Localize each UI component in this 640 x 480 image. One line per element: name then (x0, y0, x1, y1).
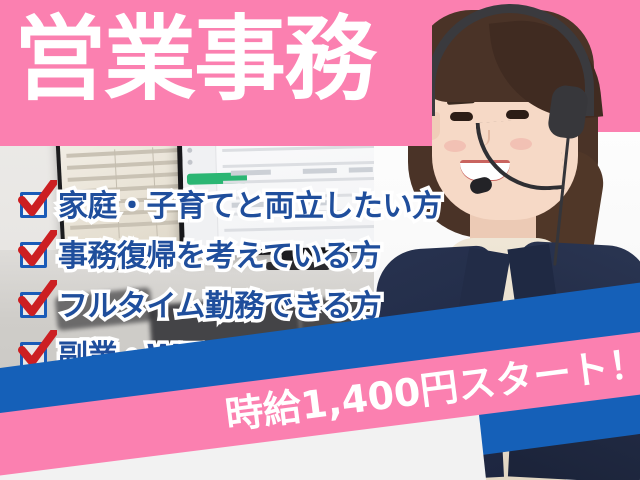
page-title: 営業事務 (14, 14, 424, 106)
checklist-item-label: 事務復帰を考えている方 (58, 231, 381, 275)
checklist-item-label: フルタイム勤務できる方 (58, 281, 381, 325)
checkbox-checked-icon (18, 186, 52, 220)
checklist-item: 事務復帰を考えている方 (18, 228, 438, 278)
job-advertisement-poster: 営業事務 家庭・子育てと両立したい方 事務復帰を考えている方 (0, 0, 640, 480)
checkbox-checked-icon (18, 236, 52, 270)
checkbox-checked-icon (18, 286, 52, 320)
checklist-item: 家庭・子育てと両立したい方 (18, 178, 438, 228)
cheek-left (444, 140, 466, 152)
checklist-item-label: 家庭・子育てと両立したい方 (58, 181, 442, 225)
